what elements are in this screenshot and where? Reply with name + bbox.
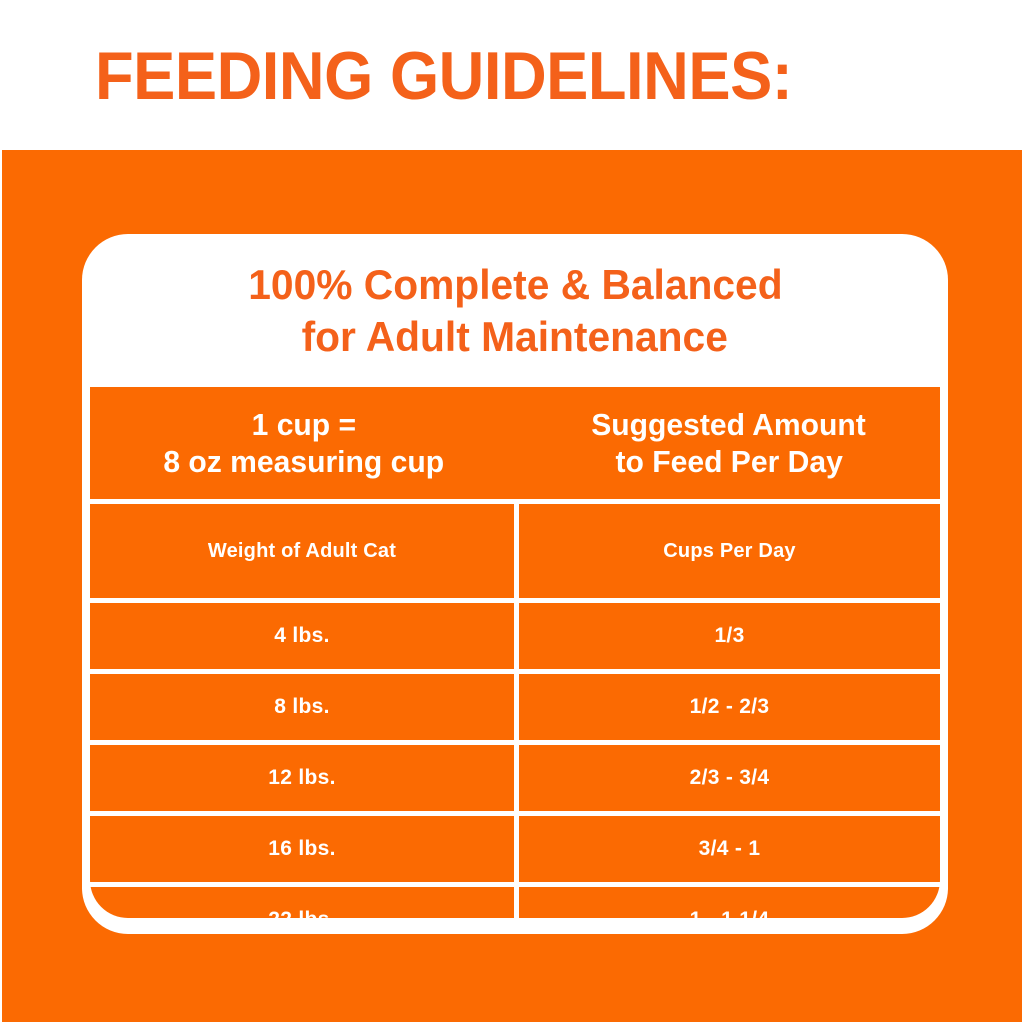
cell-weight-value: 22 lbs. bbox=[268, 908, 335, 918]
page-title: FEEDING GUIDELINES: bbox=[95, 42, 792, 110]
table-cell-weight: 22 lbs. bbox=[90, 887, 514, 918]
table-cell-weight: 12 lbs. bbox=[90, 745, 514, 811]
card-heading: 100% Complete & Balanced for Adult Maint… bbox=[82, 234, 948, 387]
feeding-table: 1 cup = 8 oz measuring cup Suggested Amo… bbox=[90, 387, 940, 918]
header-measure-line-1: 1 cup = bbox=[252, 406, 356, 443]
table-header-row: 1 cup = 8 oz measuring cup Suggested Amo… bbox=[90, 387, 940, 499]
header-measure-line-2: 8 oz measuring cup bbox=[164, 443, 445, 480]
table-header-cell-amount: Suggested Amount to Feed Per Day bbox=[518, 387, 940, 499]
table-cell-cups: 1/3 bbox=[519, 603, 940, 669]
cell-cups-value: 2/3 - 3/4 bbox=[690, 766, 770, 790]
cell-weight-value: 8 lbs. bbox=[274, 695, 330, 719]
table-cell-cups: 3/4 - 1 bbox=[519, 816, 940, 882]
table-cell-cups: 1 - 1 1/4 bbox=[519, 887, 940, 918]
column-header-cups-label: Cups Per Day bbox=[663, 540, 795, 563]
cell-cups-value: 3/4 - 1 bbox=[699, 837, 761, 861]
column-header-cups: Cups Per Day bbox=[519, 504, 940, 598]
cell-cups-value: 1/3 bbox=[714, 624, 744, 648]
feeding-card: 100% Complete & Balanced for Adult Maint… bbox=[82, 234, 948, 934]
table-cell-weight: 4 lbs. bbox=[90, 603, 514, 669]
table-cell-weight: 8 lbs. bbox=[90, 674, 514, 740]
table-header-cell-measure: 1 cup = 8 oz measuring cup bbox=[90, 387, 518, 499]
title-band: FEEDING GUIDELINES: bbox=[2, 2, 1024, 150]
table-row: 16 lbs. 3/4 - 1 bbox=[90, 816, 940, 882]
table-cell-weight: 16 lbs. bbox=[90, 816, 514, 882]
card-heading-line-1: 100% Complete & Balanced bbox=[248, 259, 782, 311]
table-cell-cups: 2/3 - 3/4 bbox=[519, 745, 940, 811]
cell-weight-value: 16 lbs. bbox=[268, 837, 335, 861]
cell-cups-value: 1/2 - 2/3 bbox=[690, 695, 770, 719]
table-cell-cups: 1/2 - 2/3 bbox=[519, 674, 940, 740]
column-header-weight-label: Weight of Adult Cat bbox=[208, 540, 396, 563]
table-row: 8 lbs. 1/2 - 2/3 bbox=[90, 674, 940, 740]
column-header-weight: Weight of Adult Cat bbox=[90, 504, 514, 598]
table-subheader-row: Weight of Adult Cat Cups Per Day bbox=[90, 504, 940, 598]
cell-cups-value: 1 - 1 1/4 bbox=[690, 908, 770, 918]
header-amount-line-2: to Feed Per Day bbox=[615, 443, 842, 480]
table-row: 12 lbs. 2/3 - 3/4 bbox=[90, 745, 940, 811]
table-row: 22 lbs. 1 - 1 1/4 bbox=[90, 887, 940, 918]
header-amount-line-1: Suggested Amount bbox=[592, 406, 867, 443]
cell-weight-value: 12 lbs. bbox=[268, 766, 335, 790]
card-heading-line-2: for Adult Maintenance bbox=[302, 311, 728, 363]
feeding-guidelines-panel: FEEDING GUIDELINES: 100% Complete & Bala… bbox=[0, 0, 1024, 1024]
cell-weight-value: 4 lbs. bbox=[274, 624, 330, 648]
table-row: 4 lbs. 1/3 bbox=[90, 603, 940, 669]
